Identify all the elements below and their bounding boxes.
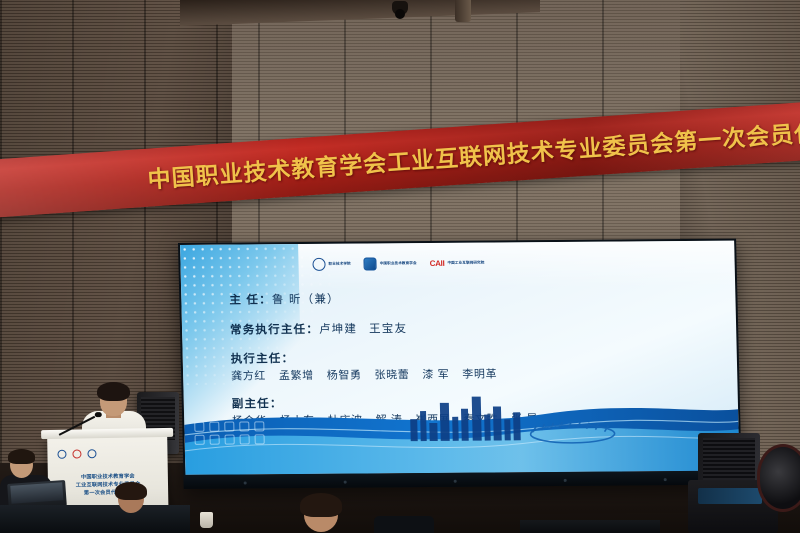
wave-svg: [183, 387, 739, 475]
decor-icon: [209, 422, 219, 432]
led-wave-graphic: [183, 387, 739, 475]
roster-row-exec-chair: 常务执行主任：卢坤建王宝友: [230, 317, 724, 339]
logo-caii-label: 中国工业互联网研究院: [447, 261, 484, 266]
roster-label-chair: 主 任：: [229, 294, 272, 306]
decor-icon: [210, 435, 220, 445]
ceiling-camera-icon: [392, 1, 408, 15]
roster-name: 杨智勇: [327, 367, 362, 383]
led-logo-row: 职业技术学院 中国职业技术教育学会 CAII 中国工业互联网研究院: [312, 257, 484, 271]
decor-icon: [239, 421, 249, 431]
roster-row-executive: 执行主任： 龚方红 孟繁增 杨智勇 张晓蕾 漆 军 李明革: [231, 347, 726, 384]
decor-icon: [194, 422, 204, 432]
subwoofer-panel: [698, 488, 762, 504]
bezel-dot: [454, 480, 457, 483]
audience-person-center: [290, 498, 360, 533]
laptop-screen: [10, 482, 63, 504]
roster-label-exec-chair: 常务执行主任：: [230, 324, 319, 337]
microphone-icon: [59, 411, 103, 438]
logo-caii: CAII 中国工业互联网研究院: [430, 259, 485, 268]
audience-hair: [300, 493, 342, 517]
decor-icon: [255, 434, 265, 444]
logo-vocational-college-label: 职业技术学院: [328, 262, 350, 267]
podium-logo-icon: [72, 449, 81, 458]
bezel-dot: [664, 478, 667, 481]
led-screen: 职业技术学院 中国职业技术教育学会 CAII 中国工业互联网研究院 主 任：鲁 …: [178, 239, 742, 489]
decor-icon: [240, 434, 250, 444]
led-screen-surface: 职业技术学院 中国职业技术教育学会 CAII 中国工业互联网研究院 主 任：鲁 …: [180, 241, 739, 475]
roster-row-chair: 主 任：鲁 昕（兼）: [229, 287, 723, 309]
roster-names-exec-chair-2: 王宝友: [369, 323, 407, 335]
podium-logo-icon: [87, 449, 96, 458]
paper-cup: [200, 512, 213, 528]
audience-hair: [115, 482, 147, 500]
speaker-grill: [703, 438, 755, 482]
bezel-dot: [344, 481, 347, 484]
cave-emblem-icon: [364, 257, 377, 270]
caii-abbr: CAII: [430, 259, 445, 268]
roster-name: 龚方红: [231, 367, 266, 383]
audience-person-second: [110, 486, 156, 533]
conference-room-photo: 中国职业技术教育学会工业互联网技术专业委员会第一次会员代表大会 职业技术学院 中…: [0, 0, 800, 533]
audience-hair: [8, 449, 35, 464]
bezel-dot: [564, 479, 567, 482]
roster-name: 李明革: [462, 365, 497, 381]
logo-cave-label: 中国职业技术教育学会: [380, 261, 417, 266]
decor-icon: [225, 435, 235, 445]
roster-name: 漆 军: [422, 366, 449, 382]
podium-logo-icon: [57, 450, 66, 459]
decor-icon: [254, 421, 264, 431]
round-speaker-right: [757, 444, 800, 512]
logo-vocational-college: 职业技术学院: [312, 258, 350, 271]
roster-name: 张晓蕾: [374, 366, 409, 382]
cable-run: [520, 520, 660, 533]
led-small-icons: [194, 421, 267, 445]
decor-icon: [224, 422, 234, 432]
roster-names-chair: 鲁 昕（兼）: [272, 294, 340, 307]
roster-names-exec-chair: 卢坤建: [319, 324, 357, 336]
front-table: [0, 505, 190, 533]
roster-name: 孟繁增: [279, 367, 314, 383]
podium-logo-row: [57, 449, 96, 459]
wall-fixture: [455, 0, 471, 22]
college-emblem-icon: [312, 258, 325, 271]
decor-icon: [195, 435, 205, 445]
roster-names-executive: 龚方红 孟繁增 杨智勇 张晓蕾 漆 军 李明革: [231, 364, 725, 384]
presenter-hair: [97, 382, 130, 401]
chair-back: [374, 516, 434, 533]
logo-cave: 中国职业技术教育学会: [364, 257, 417, 270]
bezel-dot: [244, 481, 247, 484]
